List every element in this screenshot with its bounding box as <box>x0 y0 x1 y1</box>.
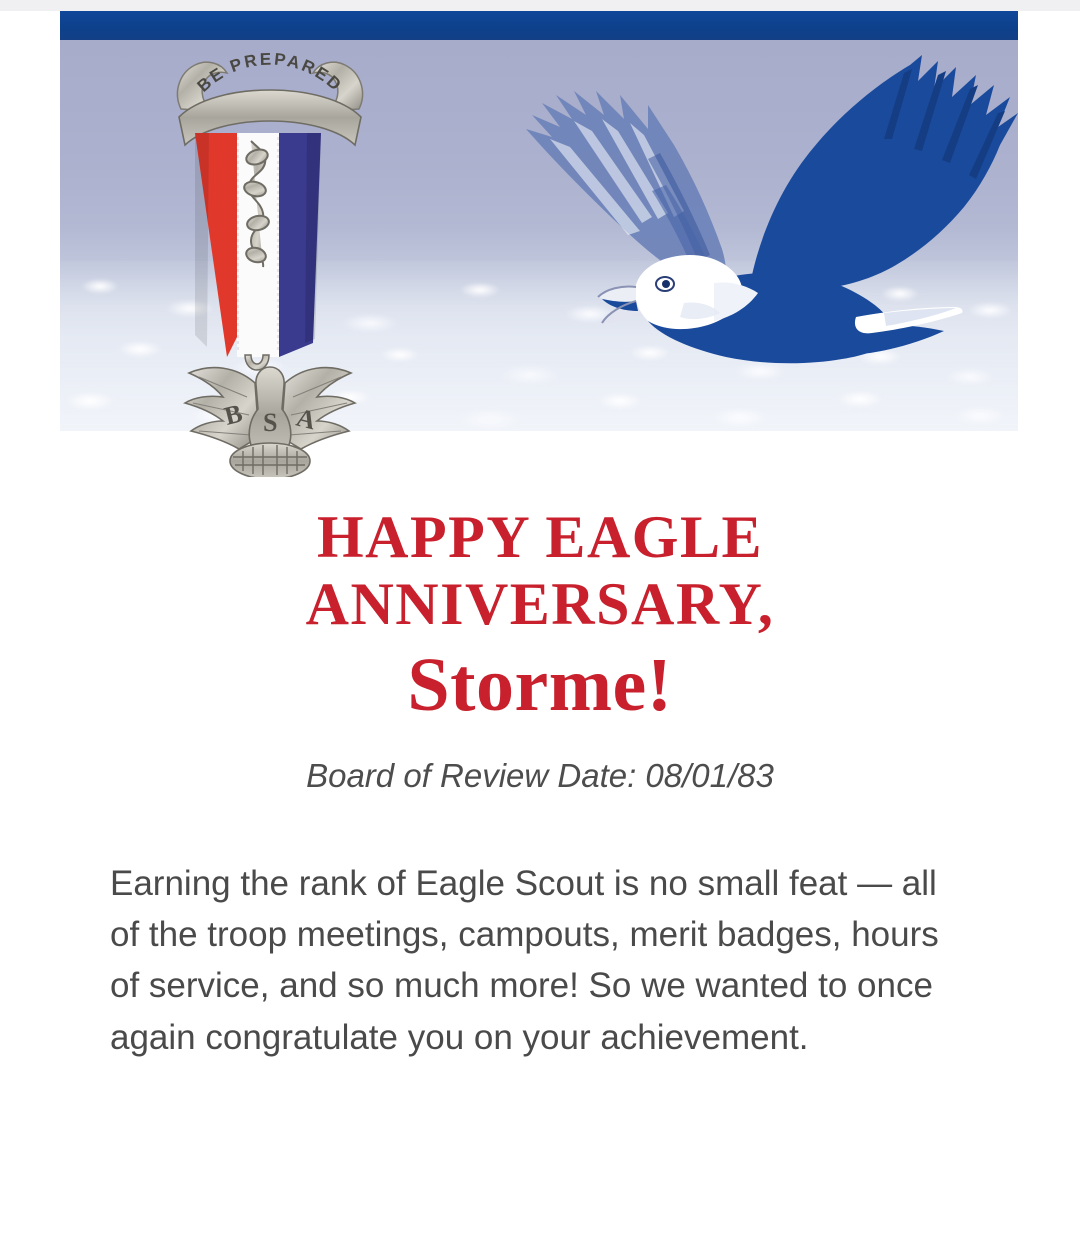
headline-line-1: HAPPY EAGLE <box>317 504 763 570</box>
recipient-name: Storme! <box>0 638 1080 728</box>
eagle-scout-medal: BE PREPARED <box>155 37 385 477</box>
svg-text:BE PREPARED: BE PREPARED <box>194 50 347 96</box>
message-content: HAPPY EAGLE ANNIVERSARY, Storme! Board o… <box>0 440 1080 1063</box>
medal-pendant-initial-s: S <box>263 408 277 437</box>
banner-blue-bar <box>60 11 1018 40</box>
congratulations-paragraph: Earning the rank of Eagle Scout is no sm… <box>0 796 1080 1064</box>
bald-eagle-icon <box>452 35 1018 393</box>
top-strip <box>0 0 1080 11</box>
headline-line-2: ANNIVERSARY, <box>306 571 775 637</box>
medal-bar-text: BE PREPARED <box>194 50 347 96</box>
hero-banner: BE PREPARED <box>60 11 1018 431</box>
board-of-review-date: Board of Review Date: 08/01/83 <box>0 728 1080 796</box>
